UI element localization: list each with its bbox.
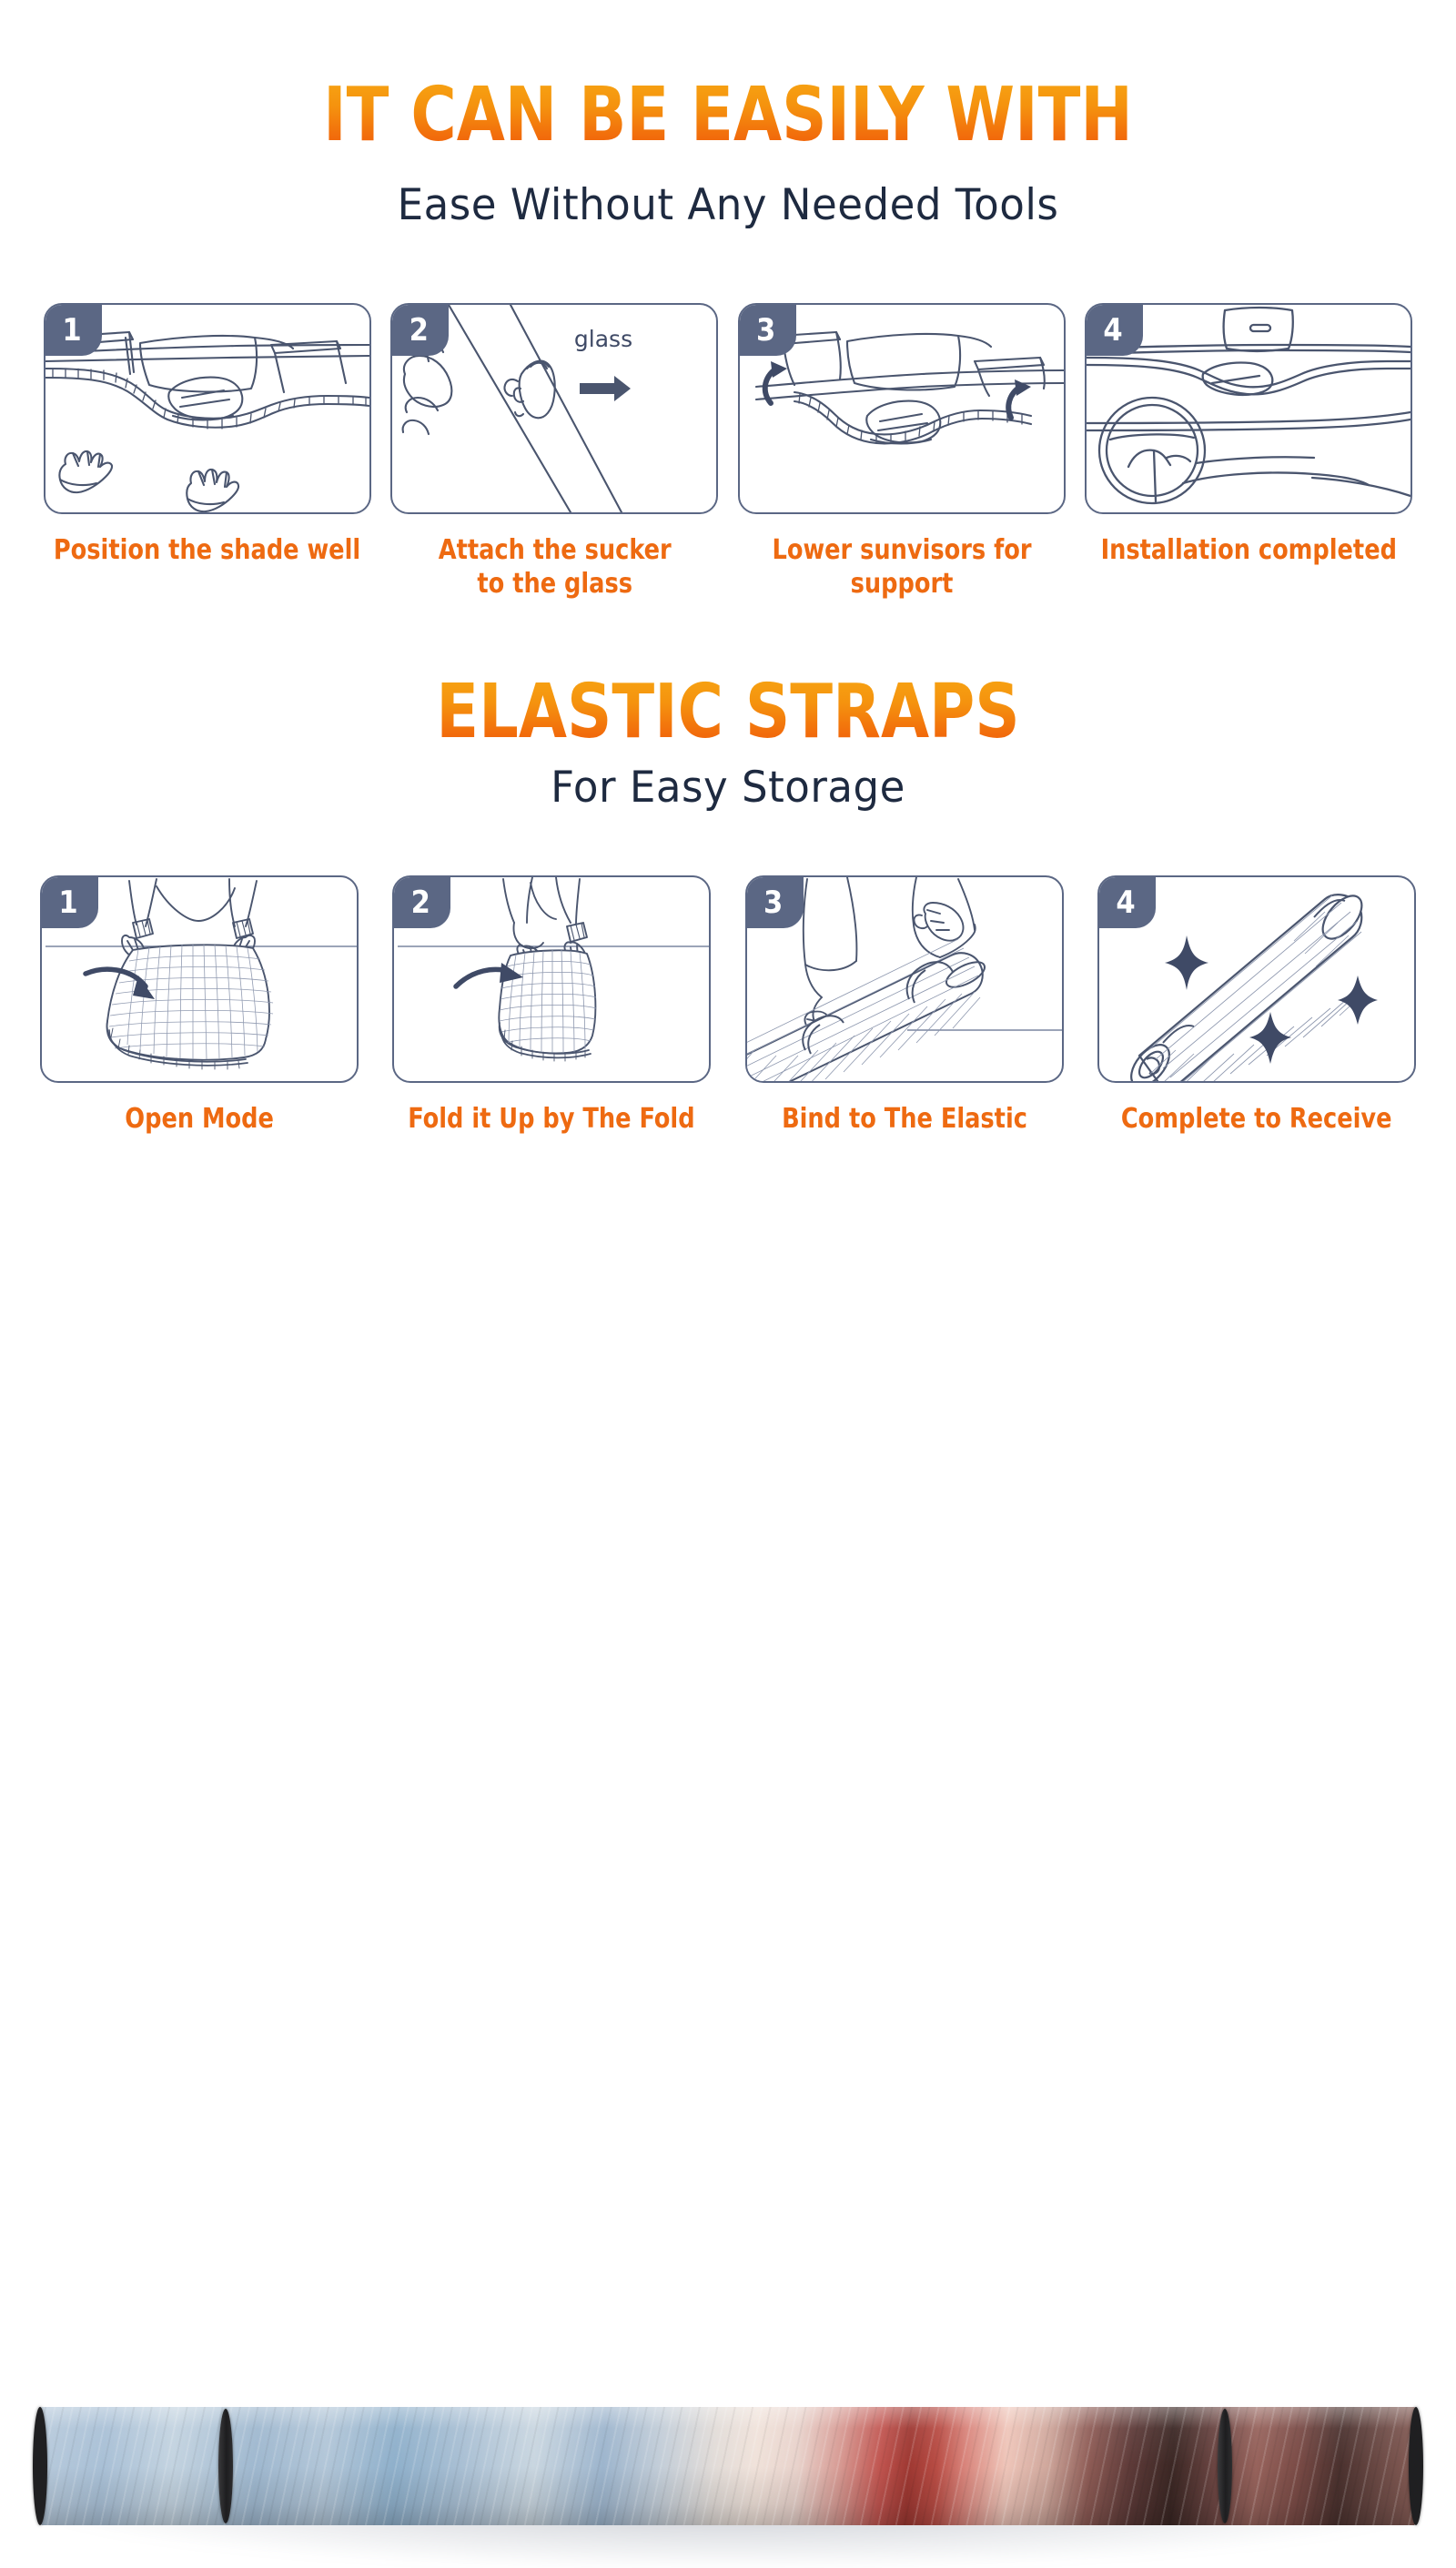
install-step-3: 3 [738, 303, 1066, 601]
step-caption: Bind to The Elastic [782, 1103, 1027, 1137]
step-number-badge: 3 [740, 305, 796, 356]
storage-steps-row: 1 [40, 875, 1416, 1137]
rolled-sunshade-photo [36, 2407, 1420, 2525]
step-caption: Lower sunvisors for support [772, 534, 1031, 601]
step-panel: 3 [745, 875, 1064, 1083]
step-number-badge: 2 [392, 305, 449, 356]
install-step-2: 2 [390, 303, 718, 601]
step-caption: Installation completed [1100, 534, 1396, 568]
step-caption: Attach the sucker to the glass [438, 534, 671, 601]
step-number-badge: 3 [747, 877, 804, 928]
install-step-4: 4 [1085, 303, 1412, 601]
step-panel: 2 [390, 303, 718, 514]
step-number-badge: 1 [45, 305, 102, 356]
install-subtitle-wrap: Ease Without Any Needed Tools [0, 180, 1456, 230]
storage-step-1: 1 [40, 875, 359, 1137]
install-subtitle: Ease Without Any Needed Tools [29, 180, 1427, 230]
step-panel: 4 [1097, 875, 1416, 1083]
step-caption: Position the shade well [54, 534, 360, 568]
step-number-badge: 2 [394, 877, 450, 928]
roll-left-end-cap [33, 2407, 47, 2525]
step-caption: Complete to Receive [1121, 1103, 1392, 1137]
install-steps-row: 1 [44, 303, 1412, 601]
step-number-badge: 1 [42, 877, 98, 928]
storage-step-2: 2 [392, 875, 711, 1137]
step-panel: 2 [392, 875, 711, 1083]
step-number-badge: 4 [1099, 877, 1156, 928]
glass-label: glass [574, 326, 632, 352]
step-caption: Open Mode [125, 1103, 274, 1137]
storage-step-4: 4 [1097, 875, 1416, 1137]
step-panel: 4 [1085, 303, 1412, 514]
product-photo-area [0, 1183, 1456, 1456]
storage-subtitle: For Easy Storage [29, 763, 1427, 813]
storage-title: ELASTIC STRAPS [51, 675, 1405, 750]
roll-right-end-cap [1409, 2407, 1423, 2525]
storage-subtitle-wrap: For Easy Storage [0, 763, 1456, 813]
storage-step-3: 3 [745, 875, 1064, 1137]
elastic-strap-left [218, 2409, 233, 2523]
step-caption: Fold it Up by The Fold [409, 1103, 695, 1137]
storage-section-heading: ELASTIC STRAPS [0, 675, 1456, 750]
step-panel: 1 [44, 303, 371, 514]
install-step-1: 1 [44, 303, 371, 601]
elastic-strap-right [1218, 2409, 1232, 2523]
step-panel: 1 [40, 875, 359, 1083]
install-title: IT CAN BE EASILY WITH [51, 78, 1405, 153]
step-number-badge: 4 [1087, 305, 1143, 356]
step-panel: 3 [738, 303, 1066, 514]
install-section-heading: IT CAN BE EASILY WITH [0, 78, 1456, 153]
